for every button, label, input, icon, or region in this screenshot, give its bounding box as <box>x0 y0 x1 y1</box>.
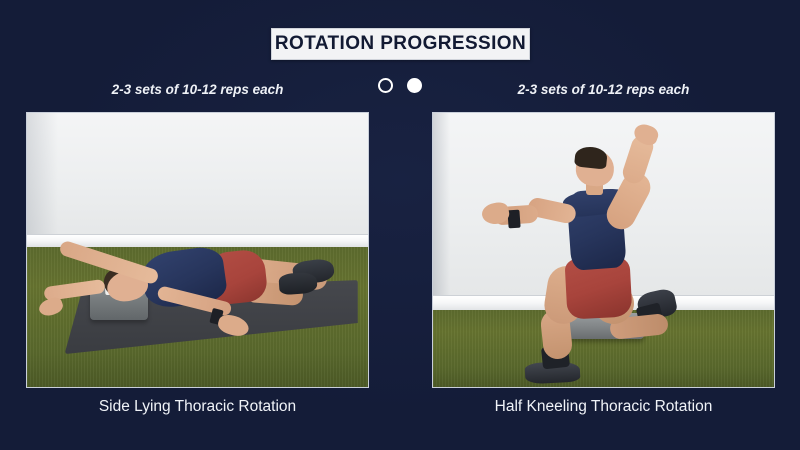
scene-half-kneeling <box>433 113 774 387</box>
progress-dot-1[interactable] <box>378 78 393 93</box>
title-banner: ROTATION PROGRESSION <box>271 28 530 60</box>
slide-root: ROTATION PROGRESSION 2-3 sets of 10-12 r… <box>0 0 800 450</box>
progress-dot-2[interactable] <box>407 78 422 93</box>
exercise-caption-left: Side Lying Thoracic Rotation <box>26 398 369 416</box>
progress-indicator <box>0 78 800 93</box>
page-title: ROTATION PROGRESSION <box>275 33 526 55</box>
wall-shadow <box>27 113 58 245</box>
exercise-caption-right: Half Kneeling Thoracic Rotation <box>432 398 775 416</box>
scene-side-lying <box>27 113 368 387</box>
wall-shadow <box>433 113 450 310</box>
exercise-photo-left[interactable] <box>26 112 369 388</box>
wristwatch <box>507 210 520 229</box>
exercise-photo-right[interactable] <box>432 112 775 388</box>
wall <box>27 113 368 245</box>
